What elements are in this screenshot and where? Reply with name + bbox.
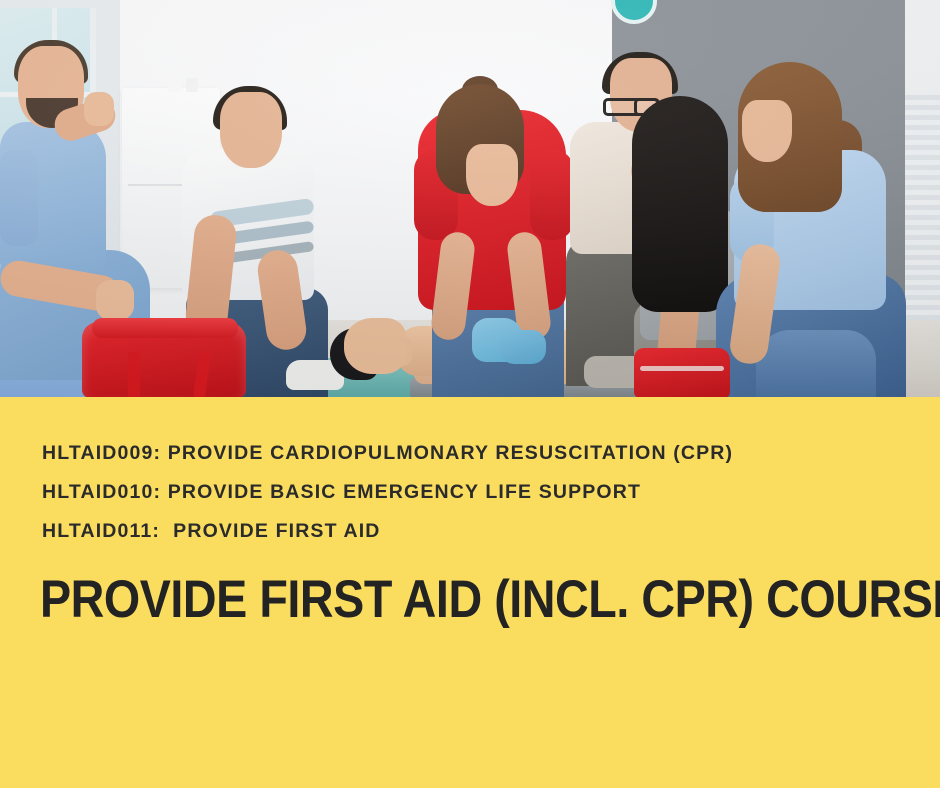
page-title: PROVIDE FIRST AID (INCL. CPR) COURSE [40,573,797,627]
student-head [220,92,282,168]
bag-strap [128,352,140,398]
training-photo [0,0,940,398]
window-blind [905,90,940,340]
instructor-hand [84,92,114,126]
observer-knee [756,330,876,398]
first-aid-kit [634,348,730,398]
manikin-head [344,318,406,374]
rescuer-face [466,144,518,206]
instructor-sleeve [0,150,38,246]
yellow-content-panel: HLTAID009: PROVIDE CARDIOPULMONARY RESUS… [0,397,940,788]
kit-zipper [640,366,724,371]
rescuer-sleeve [530,150,574,240]
course-line: HLTAID011: PROVIDE FIRST AID [42,512,733,551]
first-aid-bag-lid [92,318,238,338]
observer-long-hair [632,96,728,312]
promotional-poster: HLTAID009: PROVIDE CARDIOPULMONARY RESUS… [0,0,940,788]
instructor-hand [96,280,134,320]
course-line: HLTAID009: PROVIDE CARDIOPULMONARY RESUS… [42,434,733,473]
course-code-list: HLTAID009: PROVIDE CARDIOPULMONARY RESUS… [42,434,733,551]
blue-glove [500,330,546,364]
cup [186,78,198,92]
course-line: HLTAID010: PROVIDE BASIC EMERGENCY LIFE … [42,473,733,512]
cup [168,74,182,92]
observer-face [742,100,792,162]
